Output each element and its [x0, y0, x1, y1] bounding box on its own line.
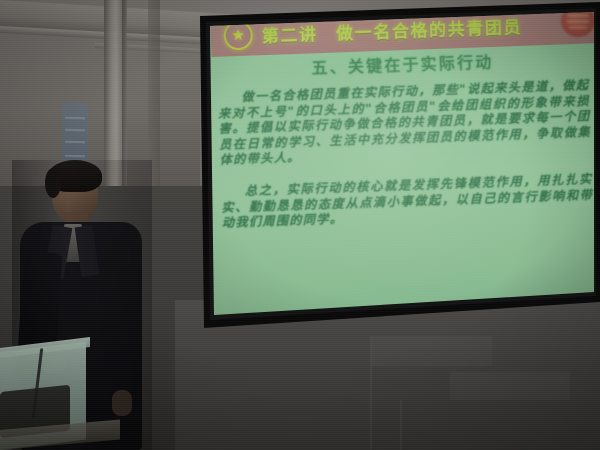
presenter-hand-right: [112, 390, 132, 416]
presenter-hair-side: [45, 168, 61, 198]
projection-screen: ★ 第二讲 做一名合格的共青团员 五、关键在于实际行动 做一名合格团员重在实际行…: [196, 2, 600, 334]
slide-paragraph: 总之，实际行动的核心就是发挥先锋模范作用，用扎扎实实、勤勤恳恳的态度从点滴小事做…: [221, 172, 594, 232]
classroom-scene: ★ 第二讲 做一名合格的共青团员 五、关键在于实际行动 做一名合格团员重在实际行…: [0, 0, 600, 450]
slide-paragraph: 做一名合格团员重在实际行动，那些"说起来头是道，做起来对不上号"的口头上的"合格…: [217, 78, 591, 169]
slide-body: 五、关键在于实际行动 做一名合格团员重在实际行动，那些"说起来头是道，做起来对不…: [216, 41, 594, 243]
wall-panel: [450, 372, 570, 400]
wall-panel: [372, 336, 492, 366]
star-glyph: ★: [231, 27, 245, 42]
presentation-slide: ★ 第二讲 做一名合格的共青团员 五、关键在于实际行动 做一名合格团员重在实际行…: [196, 2, 600, 328]
wall-seam: [400, 400, 402, 450]
